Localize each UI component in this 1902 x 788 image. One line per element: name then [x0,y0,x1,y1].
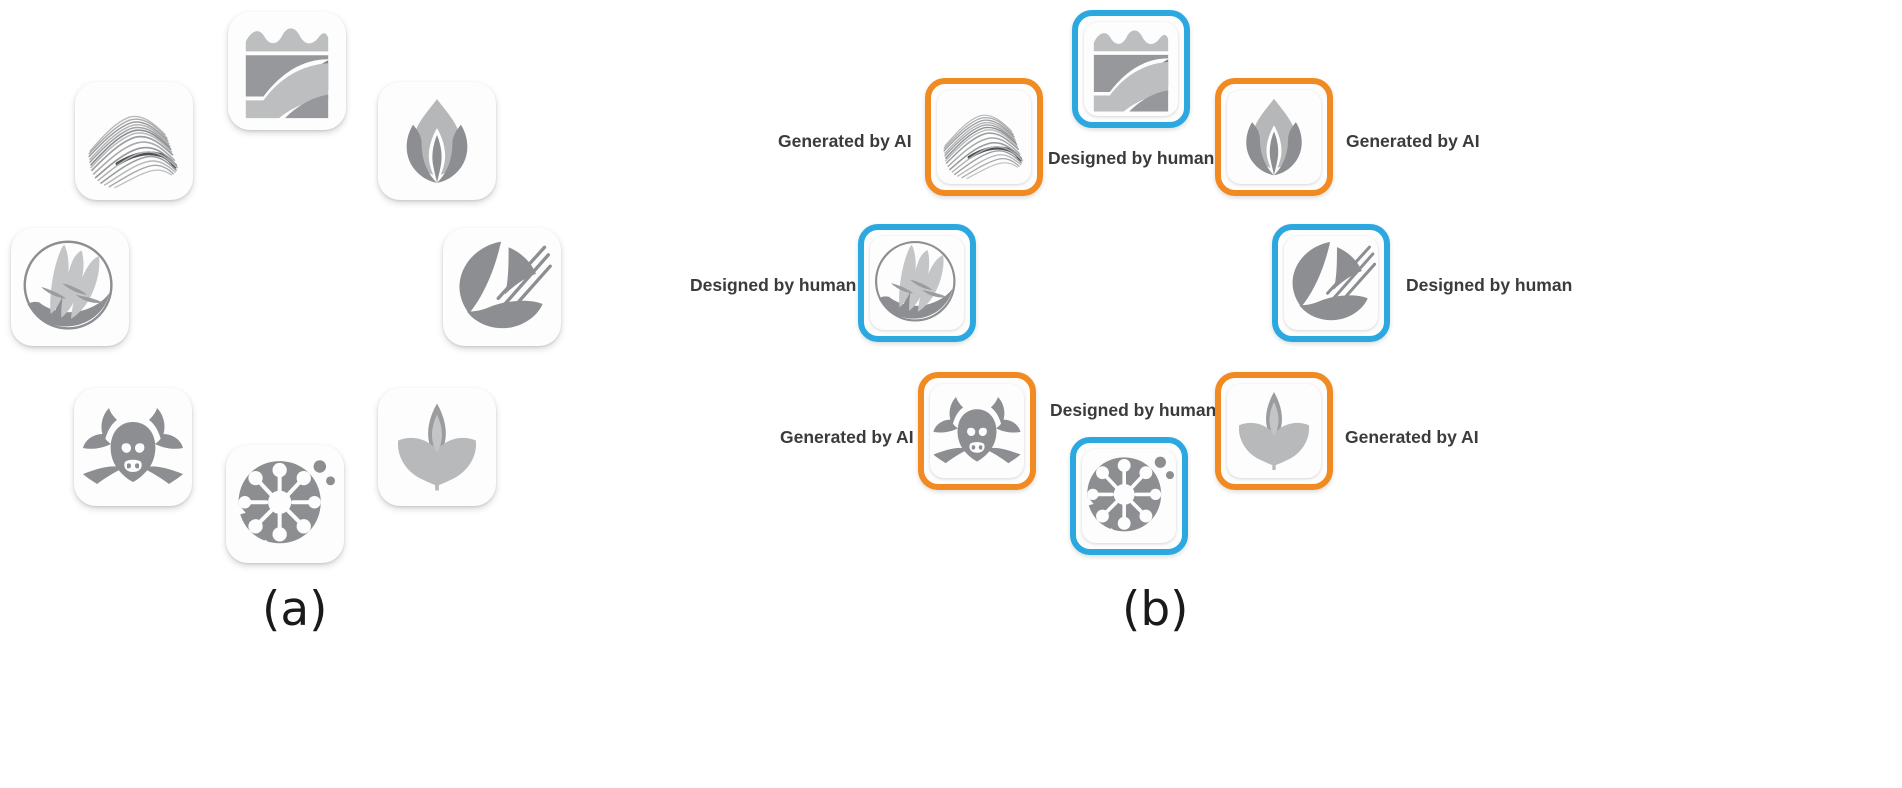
figure-root: (a) Generated by AI Designed by human Ge… [0,0,1902,788]
panel-b: Generated by AI Designed by human Genera… [760,0,1902,788]
logo-card-field-landscape-framed[interactable] [1072,10,1190,128]
panel-a: (a) [0,0,760,788]
logo-card-wheat-circle[interactable] [11,228,129,346]
contour-hill-icon [937,89,1031,185]
molecule-circle-icon [235,454,335,554]
panel-a-caption: (a) [262,582,327,637]
longhorn-cow-icon [79,397,187,497]
wheat-circle-icon [870,236,964,330]
logo-card-field-landscape[interactable] [228,12,346,130]
field-landscape-icon [236,20,338,122]
label-flame-leaf-origin: Generated by AI [1346,131,1480,152]
logo-card-flame-leaf[interactable] [378,82,496,200]
logo-card-sprout-leaves[interactable] [378,388,496,506]
label-wheat-circle-origin: Designed by human [690,275,856,296]
panel-b-caption: (b) [1122,582,1189,637]
logo-card-molecule-circle[interactable] [226,445,344,563]
longhorn-cow-icon [930,386,1024,476]
label-molecule-circle-origin: Designed by human [1050,400,1216,421]
sail-field-circle-icon [450,235,554,339]
flame-leaf-icon [390,94,484,188]
logo-card-longhorn-cow[interactable] [74,388,192,506]
logo-card-contour-hill[interactable] [75,82,193,200]
logo-card-contour-hill-framed[interactable] [925,78,1043,196]
logo-card-molecule-circle-framed[interactable] [1070,437,1188,555]
molecule-circle-icon [1084,451,1174,541]
logo-card-wheat-circle-framed[interactable] [858,224,976,342]
card-inner [1227,384,1321,478]
logo-card-flame-leaf-framed[interactable] [1215,78,1333,196]
logo-card-longhorn-cow-framed[interactable] [918,372,1036,490]
sprout-leaves-icon [388,398,486,496]
logo-card-sprout-leaves-framed[interactable] [1215,372,1333,490]
card-inner [937,90,1031,184]
card-inner [930,384,1024,478]
wheat-circle-icon [18,235,122,339]
label-sprout-leaves-origin: Generated by AI [1345,427,1479,448]
sprout-leaves-icon [1230,387,1318,475]
label-field-landscape-origin: Designed by human [1048,148,1214,169]
card-inner [870,236,964,330]
field-landscape-icon [1085,23,1177,115]
card-inner [1227,90,1321,184]
logo-card-sail-field-circle[interactable] [443,228,561,346]
card-inner [1084,22,1178,116]
label-contour-hill-origin: Generated by AI [778,131,912,152]
label-sail-field-circle-origin: Designed by human [1406,275,1572,296]
card-inner [1284,236,1378,330]
sail-field-circle-icon [1284,236,1378,330]
contour-hill-icon [80,87,188,195]
logo-card-sail-field-circle-framed[interactable] [1272,224,1390,342]
label-longhorn-cow-origin: Generated by AI [780,427,914,448]
flame-leaf-icon [1231,94,1317,180]
card-inner [1082,449,1176,543]
